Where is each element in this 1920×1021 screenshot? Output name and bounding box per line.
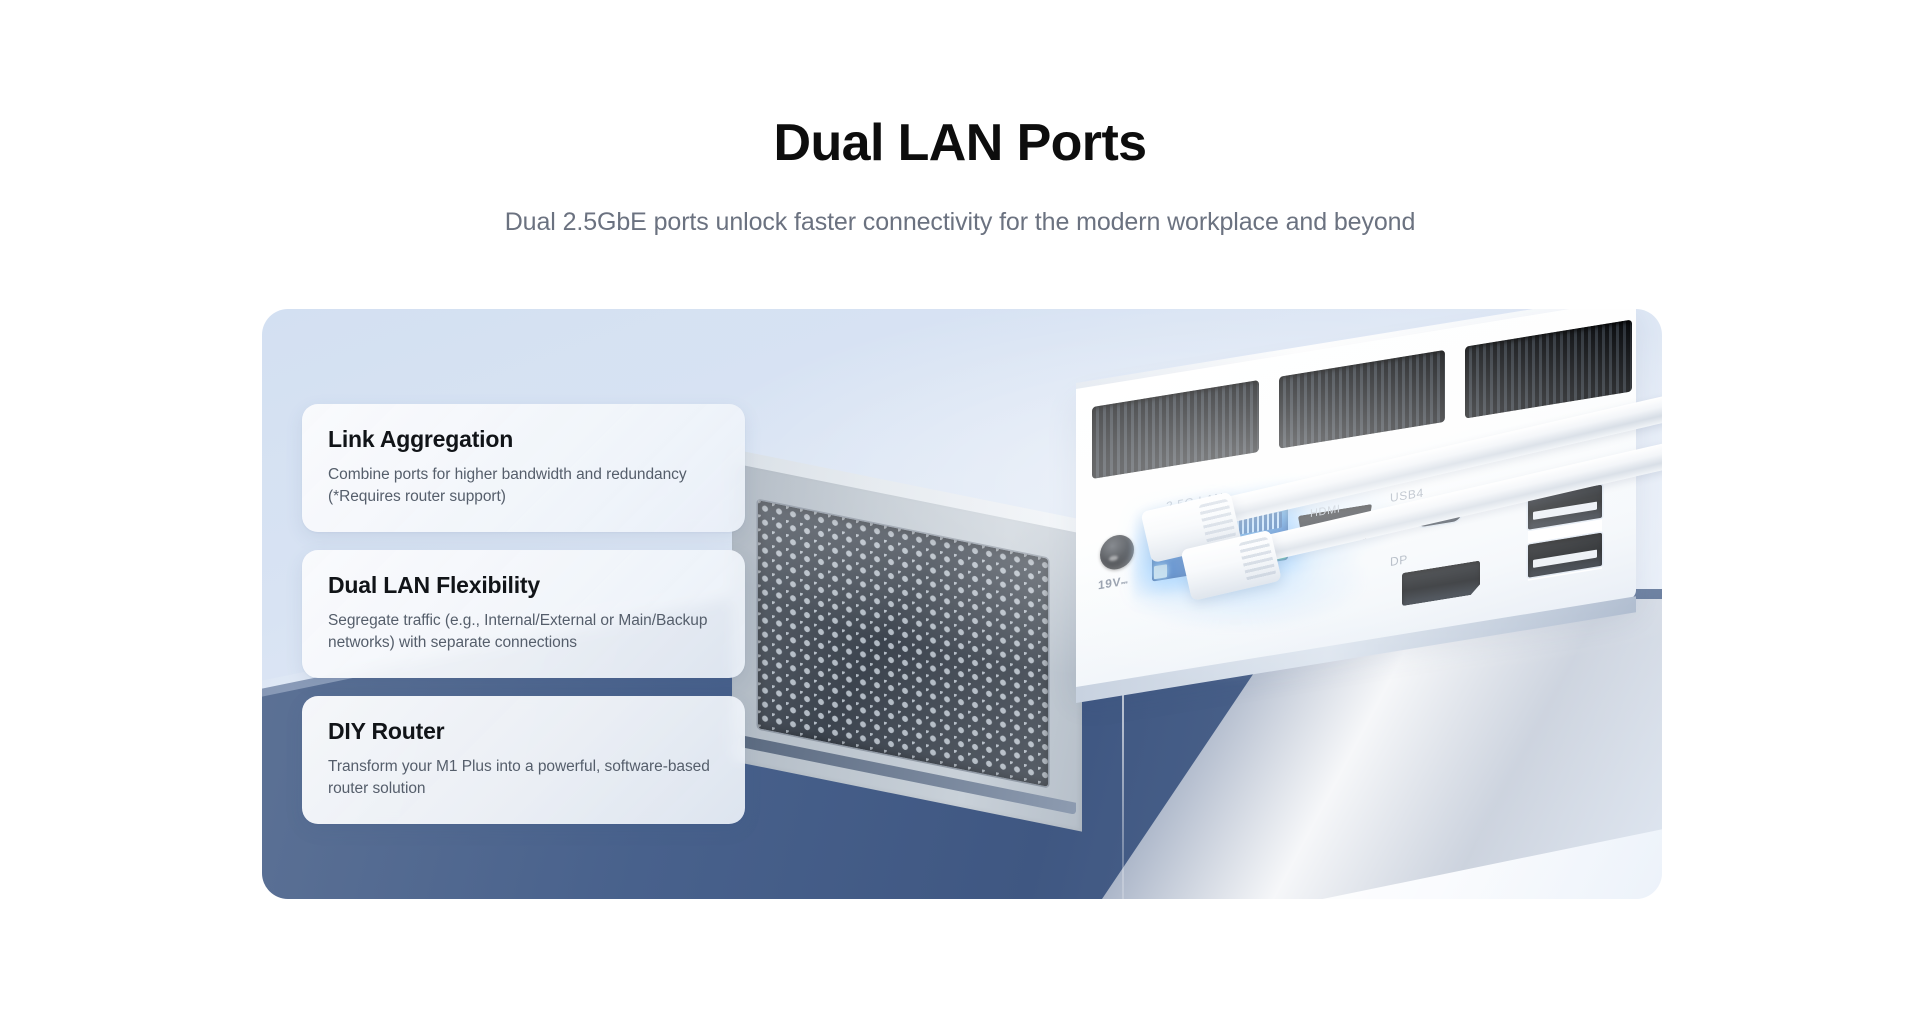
- mini-pc-product-render: 19V⎓ 2.5G LAN HDMI USB4 DP: [732, 399, 1632, 819]
- lan-led-indicator: [1199, 557, 1212, 572]
- honeycomb-vent-mesh: [758, 500, 1048, 786]
- lan-led-indicator: [1154, 564, 1167, 579]
- feature-card-diy-router[interactable]: DIY Router Transform your M1 Plus into a…: [302, 696, 745, 824]
- page-title: Dual LAN Ports: [0, 115, 1920, 172]
- power-voltage-label: 19V⎓: [1098, 574, 1128, 593]
- feature-card-link-aggregation[interactable]: Link Aggregation Combine ports for highe…: [302, 404, 745, 532]
- hero-panel: 19V⎓ 2.5G LAN HDMI USB4 DP: [262, 309, 1662, 899]
- usb-a-port: [1528, 485, 1602, 530]
- feature-card-title: Link Aggregation: [328, 426, 719, 453]
- page-subtitle: Dual 2.5GbE ports unlock faster connecti…: [0, 208, 1920, 237]
- usb-a-port-stack: [1528, 485, 1602, 581]
- feature-card-title: Dual LAN Flexibility: [328, 572, 719, 599]
- feature-card-description: Transform your M1 Plus into a powerful, …: [328, 756, 719, 800]
- feature-card-list: Link Aggregation Combine ports for highe…: [302, 404, 745, 842]
- power-voltage-value: 19V: [1098, 575, 1121, 593]
- usb-trident-icon: [1518, 467, 1552, 491]
- displayport-label: DP: [1390, 552, 1408, 569]
- usb-a-port: [1528, 533, 1602, 578]
- heading-block: Dual LAN Ports Dual 2.5GbE ports unlock …: [0, 0, 1920, 237]
- product-feature-page: Dual LAN Ports Dual 2.5GbE ports unlock …: [0, 0, 1920, 1021]
- lan-port-1: [1152, 518, 1214, 582]
- usb4-type-c-port: [1416, 501, 1462, 527]
- dc-symbol-icon: ⎓: [1121, 578, 1127, 588]
- lan-port-2: [1226, 506, 1288, 570]
- lan-led-indicator: [1228, 552, 1241, 567]
- feature-card-description: Combine ports for higher bandwidth and r…: [328, 464, 719, 508]
- displayport-port: [1402, 560, 1480, 606]
- feature-card-title: DIY Router: [328, 718, 719, 745]
- usb4-port-label: USB4: [1390, 486, 1424, 505]
- dc-power-jack: [1100, 533, 1134, 573]
- feature-card-description: Segregate traffic (e.g., Internal/Extern…: [328, 610, 719, 654]
- feature-card-dual-lan-flexibility[interactable]: Dual LAN Flexibility Segregate traffic (…: [302, 550, 745, 678]
- lan-led-indicator: [1273, 545, 1286, 560]
